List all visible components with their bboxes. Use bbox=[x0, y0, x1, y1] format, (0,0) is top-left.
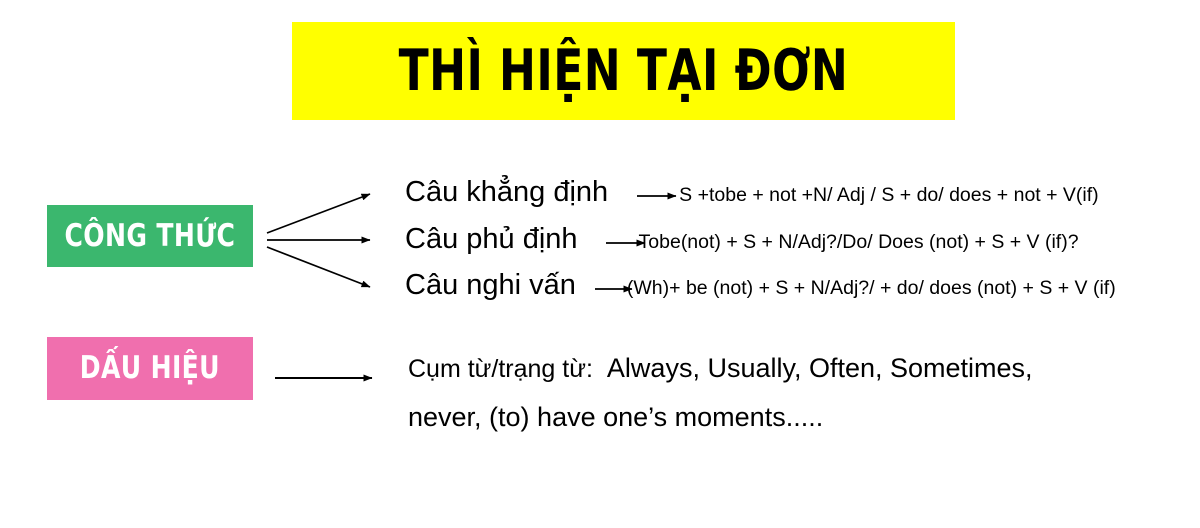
formula-row-value: (Wh)+ be (not) + S + N/Adj?/ + do/ does … bbox=[627, 279, 1116, 299]
formula-row-label: Câu khẳng định bbox=[405, 178, 608, 207]
formula-row-value: Tobe(not) + S + N/Adj?/Do/ Does (not) + … bbox=[639, 233, 1079, 253]
signal-adverbs-line-2: never, (to) have one’s moments..... bbox=[408, 404, 1188, 431]
category-label-formula: CÔNG THỨC bbox=[47, 205, 253, 267]
title-banner: THÌ HIỆN TẠI ĐƠN bbox=[292, 22, 955, 120]
signal-words-label: Cụm từ/trạng từ: bbox=[408, 357, 593, 382]
formula-row-value: S +tobe + not +N/ Adj / S + do/ does + n… bbox=[679, 186, 1099, 206]
page-title: THÌ HIỆN TẠI ĐƠN bbox=[399, 43, 849, 100]
signal-words-block: Cụm từ/trạng từ: Always, Usually, Often,… bbox=[408, 355, 1188, 431]
formula-row-label: Câu phủ định bbox=[405, 225, 578, 254]
category-label-formula-text: CÔNG THỨC bbox=[65, 221, 236, 252]
signal-adverbs-line-1: Always, Usually, Often, Sometimes, bbox=[607, 355, 1033, 382]
arrow-formula-to-affirmative bbox=[267, 194, 370, 233]
signal-words-line-1: Cụm từ/trạng từ: Always, Usually, Often,… bbox=[408, 355, 1188, 389]
category-label-signal-text: DẤU HIỆU bbox=[80, 353, 220, 384]
arrow-formula-to-interrogative bbox=[267, 247, 370, 287]
category-label-signal: DẤU HIỆU bbox=[47, 337, 253, 400]
formula-row: Câu nghi vấn (Wh)+ be (not) + S + N/Adj?… bbox=[405, 271, 1116, 311]
formula-row-label: Câu nghi vấn bbox=[405, 271, 576, 300]
formula-row: Câu khẳng định S +tobe + not +N/ Adj / S… bbox=[405, 178, 1099, 218]
formula-row: Câu phủ định Tobe(not) + S + N/Adj?/Do/ … bbox=[405, 225, 1079, 265]
